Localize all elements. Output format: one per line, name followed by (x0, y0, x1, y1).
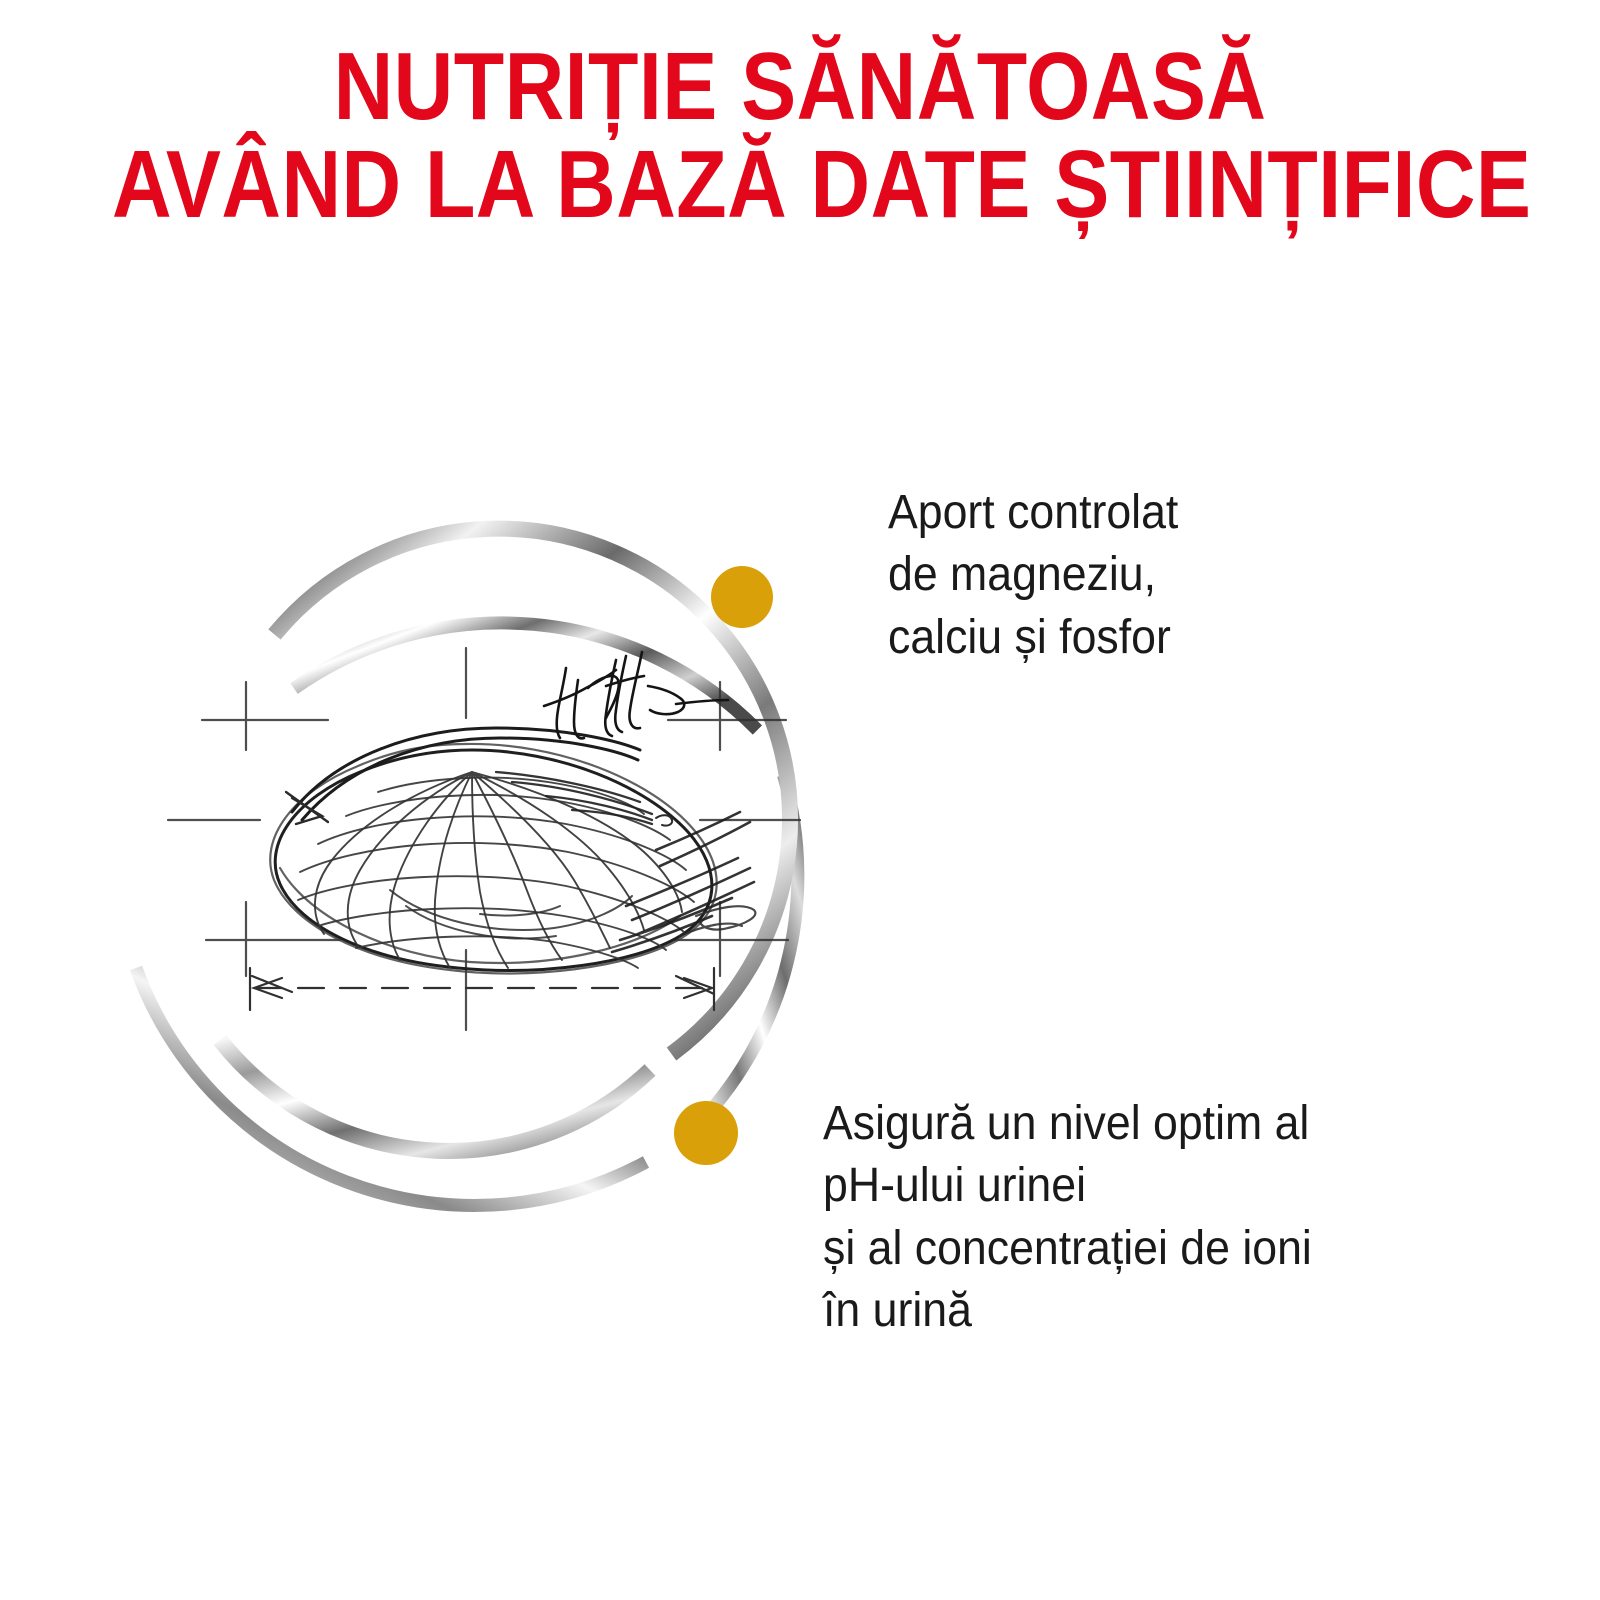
kibble-inner-contour (390, 890, 632, 938)
title-line-1: NUTRIȚIE SĂNĂTOASĂ (112, 38, 1488, 136)
dimension-line (250, 968, 714, 1010)
outer-orbit-arc-right (680, 775, 798, 1142)
kibble-detail-mark (656, 815, 672, 825)
page-title: NUTRIȚIE SĂNĂTOASĂ AVÂND LA BAZĂ DATE ȘT… (0, 38, 1600, 234)
callout-text-magnesium: Aport controlat de magneziu, calciu și f… (888, 482, 1178, 669)
kibble-sketch (168, 648, 800, 1030)
outer-orbit-arc-bottom (136, 968, 646, 1205)
marker-dot-top[interactable] (711, 566, 773, 628)
poster-canvas: NUTRIȚIE SĂNĂTOASĂ AVÂND LA BAZĂ DATE ȘT… (0, 0, 1600, 1600)
inner-orbit-arc-bottom (220, 1040, 650, 1151)
callout-text-urine-ph: Asigură un nivel optim al pH-ului urinei… (823, 1093, 1312, 1343)
title-line-2: AVÂND LA BAZĂ DATE ȘTIINȚIFICE (112, 136, 1488, 234)
designer-signature (544, 652, 728, 738)
outer-orbit-arc-top (294, 623, 757, 730)
marker-dot-bottom[interactable] (674, 1101, 738, 1165)
